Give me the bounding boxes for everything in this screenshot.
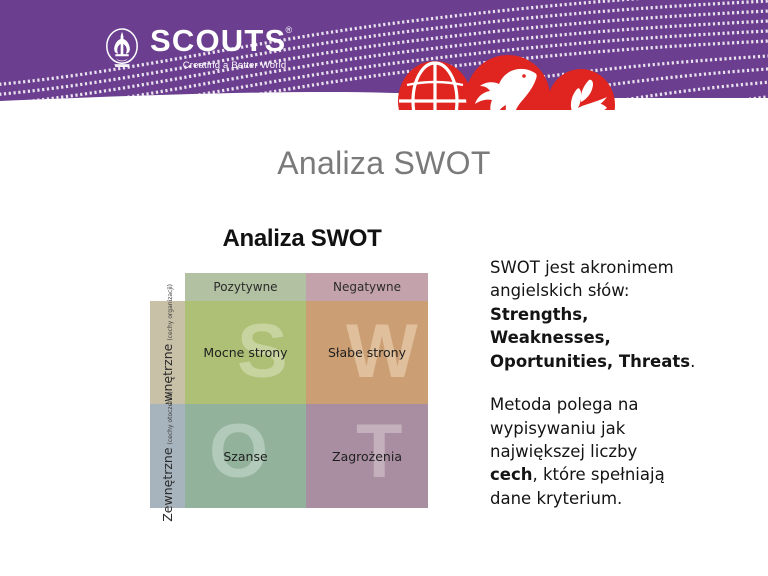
acronym-period: . bbox=[690, 352, 695, 371]
quadrant-threats: T Zagrożenia bbox=[306, 404, 428, 508]
paragraph-acronym: SWOT jest akronimem angielskich słów: St… bbox=[490, 256, 740, 373]
method-bold-cech: cech bbox=[490, 465, 533, 484]
column-header-negative: Negatywne bbox=[306, 273, 428, 301]
paragraph-method: Metoda polega na wypisywaniu jak najwięk… bbox=[490, 393, 740, 510]
quadrant-strengths: S Mocne strony bbox=[185, 301, 306, 404]
quadrant-threats-label: Zagrożenia bbox=[306, 404, 428, 508]
acronym-weaknesses: Weaknesses, bbox=[490, 328, 611, 347]
leaf-icon bbox=[547, 69, 615, 110]
swot-matrix-figure: Analiza SWOT Pozytywne Negatywne Wewnętr… bbox=[150, 225, 435, 515]
quadrant-weaknesses: W Słabe strony bbox=[306, 301, 428, 404]
figure-title: Analiza SWOT bbox=[172, 225, 432, 253]
scouts-brand-logo: SCOUTS ® Creating a Better World bbox=[103, 25, 286, 71]
brand-word-text: SCOUTS bbox=[150, 23, 286, 58]
method-line-5: dane kryterium. bbox=[490, 489, 622, 508]
acronym-opportunities-threats: Oportunities, Threats bbox=[490, 352, 690, 371]
paragraph-spacer bbox=[490, 373, 740, 393]
page-title: Analiza SWOT bbox=[0, 145, 768, 182]
quadrant-weaknesses-label: Słabe strony bbox=[306, 301, 428, 404]
row-header-external: Zewnętrzne (cechy otoczenia) bbox=[150, 404, 185, 508]
swot-grid: Pozytywne Negatywne Wewnętrzne (cechy or… bbox=[150, 273, 428, 508]
quadrant-opportunities-label: Szanse bbox=[185, 404, 306, 508]
method-line-2: wypisywaniu jak bbox=[490, 419, 625, 438]
dove-icon bbox=[466, 55, 550, 110]
row-header-external-label: Zewnętrzne bbox=[160, 447, 175, 521]
body-text-block: SWOT jest akronimem angielskich słów: St… bbox=[490, 256, 740, 510]
scout-emblem-row bbox=[393, 55, 623, 110]
row-header-internal-sublabel: (cechy organizacji) bbox=[167, 284, 174, 341]
row-header-internal: Wewnętrzne (cechy organizacji) bbox=[150, 301, 185, 404]
method-line-3: największej liczby bbox=[490, 442, 637, 461]
acronym-strengths: Strengths, bbox=[490, 305, 588, 324]
column-header-positive: Pozytywne bbox=[185, 273, 306, 301]
brand-wordmark: SCOUTS ® bbox=[150, 25, 286, 56]
brand-tagline: Creating a Better World bbox=[183, 61, 287, 71]
acronym-line-1: SWOT jest akronimem bbox=[490, 258, 674, 277]
acronym-line-2: angielskich słów: bbox=[490, 281, 629, 300]
method-line-4-rest: , które spełniają bbox=[533, 465, 665, 484]
quadrant-opportunities: O Szanse bbox=[185, 404, 306, 508]
quadrant-strengths-label: Mocne strony bbox=[185, 301, 306, 404]
globe-icon bbox=[398, 61, 472, 110]
method-line-1: Metoda polega na bbox=[490, 395, 638, 414]
header-band: SCOUTS ® Creating a Better World bbox=[0, 0, 768, 110]
row-header-external-sublabel: (cechy otoczenia) bbox=[167, 391, 174, 444]
registered-trademark-icon: ® bbox=[286, 26, 294, 35]
fleur-de-lis-icon bbox=[103, 26, 141, 70]
